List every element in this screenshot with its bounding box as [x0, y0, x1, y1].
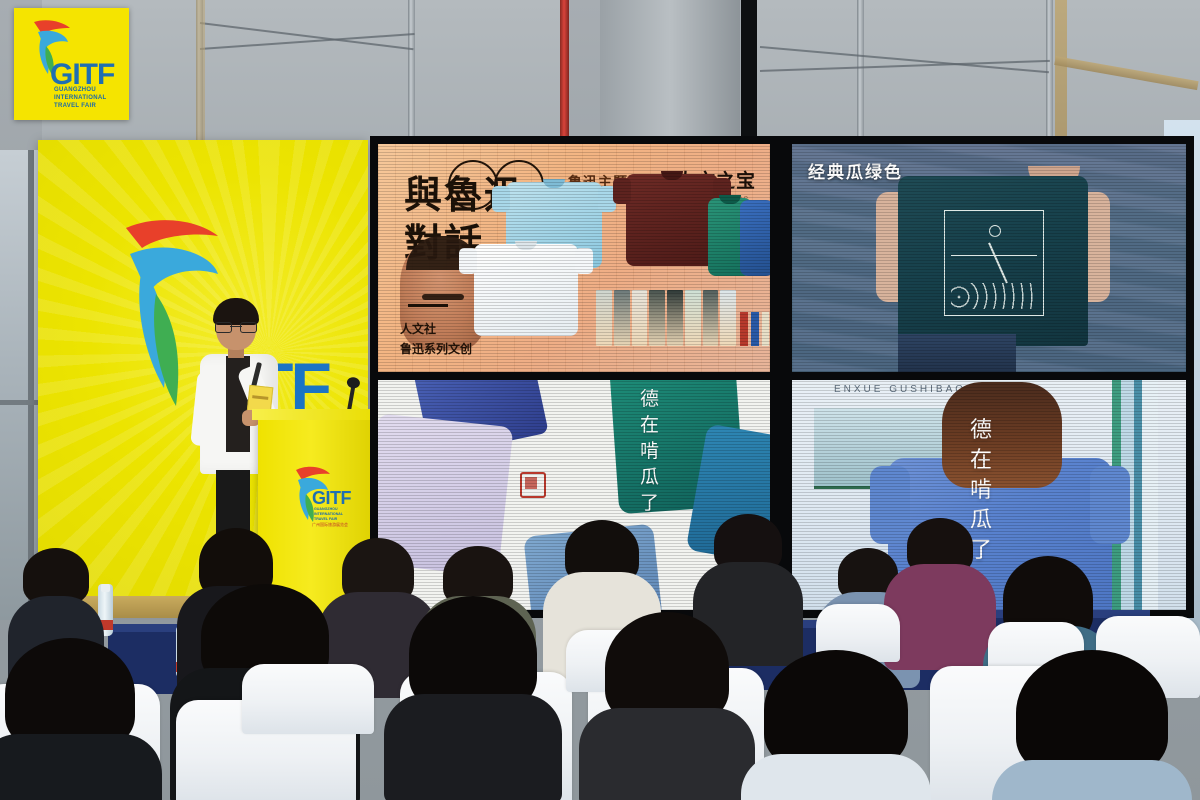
chair-cover-5 [242, 664, 374, 734]
person-hair [1016, 650, 1168, 776]
audience-person-front-4 [1008, 650, 1176, 800]
audience-person-8 [892, 518, 988, 668]
audience-person-front-1 [398, 596, 548, 800]
person-torso [0, 734, 162, 800]
audience-person-front-2 [592, 612, 742, 800]
screenshot-root: GITF GUANGZHOU INTERNATIONAL TRAVEL FAIR… [0, 0, 1200, 800]
person-torso [992, 760, 1192, 800]
person-torso [741, 754, 931, 800]
person-hair [764, 650, 908, 770]
audience-person-front-3 [756, 650, 916, 800]
person-torso [384, 694, 562, 800]
audience-person-front-5 [0, 638, 150, 800]
person-torso [579, 708, 755, 800]
